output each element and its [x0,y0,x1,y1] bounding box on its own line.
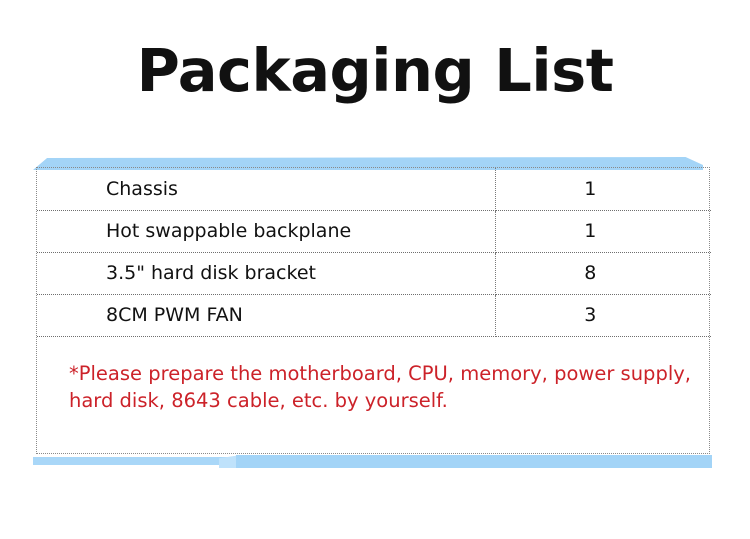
bottom-accent-band-left [33,457,227,465]
page-title: Packaging List [0,36,750,106]
table-row: 3.5" hard disk bracket 8 [37,252,711,294]
table-row: 8CM PWM FAN 3 [37,294,711,336]
table-cell-quantity: 8 [495,252,711,294]
table-cell-item: Chassis [37,168,495,210]
table-cell-item: 8CM PWM FAN [37,294,495,336]
table-cell-quantity: 3 [495,294,711,336]
bottom-accent-band-right [236,455,712,468]
packaging-table-body: Chassis 1 Hot swappable backplane 1 3.5"… [37,168,711,336]
table-cell-item: Hot swappable backplane [37,210,495,252]
table-cell-quantity: 1 [495,168,711,210]
table-row: Chassis 1 [37,168,711,210]
table-cell-quantity: 1 [495,210,711,252]
bottom-accent-band [33,455,712,469]
table-row: Hot swappable backplane 1 [37,210,711,252]
packaging-note-text: *Please prepare the motherboard, CPU, me… [69,360,694,414]
table-cell-item: 3.5" hard disk bracket [37,252,495,294]
packaging-table: Chassis 1 Hot swappable backplane 1 3.5"… [37,168,711,337]
packaging-list-panel: Chassis 1 Hot swappable backplane 1 3.5"… [36,167,710,454]
bottom-accent-band-notch [219,455,241,468]
